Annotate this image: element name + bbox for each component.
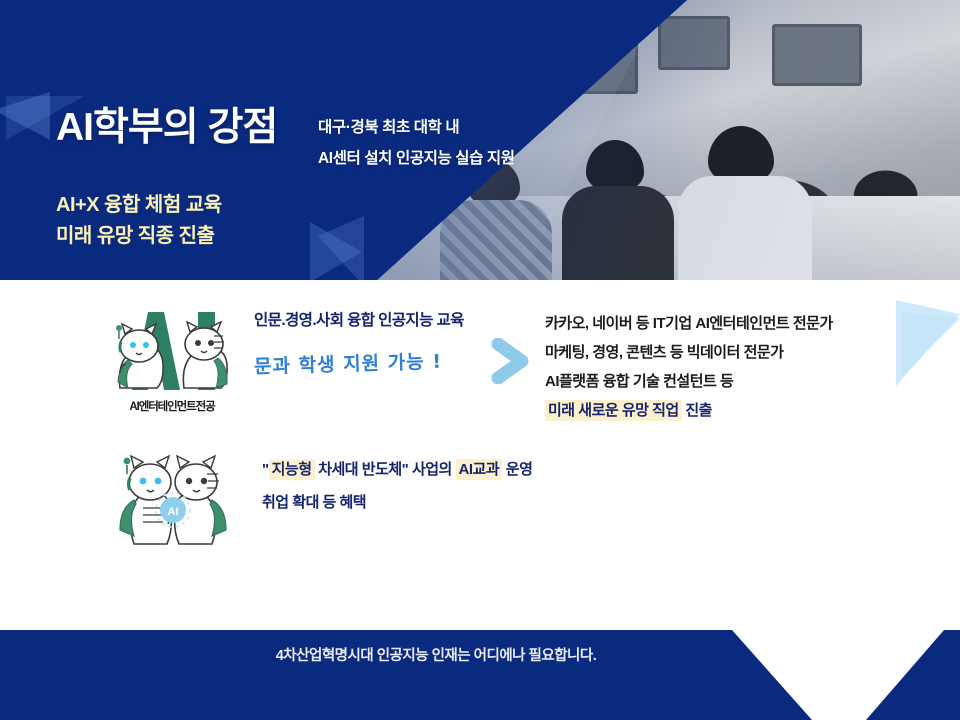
header-banner: AI학부의 강점 AI+X 융합 체험 교육 미래 유망 직종 진출 대구·경북… (0, 0, 960, 280)
career-line-4-suffix: 진출 (682, 402, 712, 419)
content-row-1: AI엔터테인먼트전공 인문.경영.사회 융합 인공지능 교육 문과 학생 지원 … (106, 302, 464, 414)
two-tigers-mascot: AI (110, 452, 242, 553)
two-tigers-mascot-icon: AI (110, 452, 236, 548)
content-row-2: AI "지능형 차세대 반도체" 사업의 AI교과 운영 취업 확대 등 혜택 (110, 452, 532, 553)
ai-letters-mascot-icon (106, 302, 238, 394)
header-subtitle-line-1: AI+X 융합 체험 교육 (56, 190, 222, 221)
row2-highlight-2: AI교과 (456, 459, 503, 480)
ai-logo-caption: AI엔터테인먼트전공 (106, 398, 238, 414)
career-line-1: 카카오, 네이버 등 IT기업 AI엔터테인먼트 전문가 (545, 316, 833, 331)
career-line-4: 미래 새로운 유망 직업 진출 (545, 403, 833, 418)
row1-careers-column: 카카오, 네이버 등 IT기업 AI엔터테인먼트 전문가 마케팅, 경영, 콘텐… (545, 316, 833, 418)
row1-text-column: 인문.경영.사회 융합 인공지능 교육 문과 학생 지원 가능 ! (254, 302, 464, 379)
header-subtitle: AI+X 융합 체험 교육 미래 유망 직종 진출 (56, 190, 222, 252)
slide-root: AI학부의 강점 AI+X 융합 체험 교육 미래 유망 직종 진출 대구·경북… (0, 0, 960, 720)
row2-mid-text: 차세대 반도체" 사업의 (315, 461, 456, 478)
row2-text-column: "지능형 차세대 반도체" 사업의 AI교과 운영 취업 확대 등 혜택 (262, 452, 532, 510)
row2-post-text: 운영 (502, 461, 532, 478)
decor-triangle-left-a (0, 92, 50, 140)
header-side-text: 대구·경북 최초 대학 내 AI센터 설치 인공지능 실습 지원 (318, 112, 515, 174)
decor-triangle-mid-c (310, 222, 362, 280)
tiger-mascot-right (183, 322, 227, 388)
ai-entertainment-logo: AI엔터테인먼트전공 (106, 302, 238, 414)
career-line-3: AI플랫폼 융합 기술 컨설턴트 등 (545, 374, 833, 389)
footer-text: 4차산업혁명시대 인공지능 인재는 어디에나 필요합니다. (0, 644, 872, 665)
row2-line-1: "지능형 차세대 반도체" 사업의 AI교과 운영 (262, 462, 532, 477)
chevron-right-icon (490, 338, 534, 384)
header-side-line-1: 대구·경북 최초 대학 내 (318, 112, 515, 143)
row2-line-2: 취업 확대 등 혜택 (262, 495, 532, 510)
ai-orb-label: AI (168, 506, 179, 518)
row2-highlight-1: 지능형 (269, 459, 315, 480)
row1-handwriting-note: 문과 학생 지원 가능 ! (254, 346, 464, 379)
header-side-line-2: AI센터 설치 인공지능 실습 지원 (318, 143, 515, 174)
row2-quote-open: " (262, 461, 269, 478)
ai-logo-canvas (106, 302, 238, 394)
career-line-2: 마케팅, 경영, 콘텐츠 등 빅데이터 전문가 (545, 345, 833, 360)
page-title-wrap: AI학부의 강점 (56, 108, 277, 147)
row1-headline: 인문.경영.사회 융합 인공지능 교육 (254, 308, 464, 330)
page-title: AI학부의 강점 (56, 108, 277, 147)
decor-triangle-right-inner (902, 312, 960, 376)
career-line-4-highlight: 미래 새로운 유망 직업 (545, 400, 682, 421)
header-subtitle-line-2: 미래 유망 직종 진출 (56, 221, 222, 252)
